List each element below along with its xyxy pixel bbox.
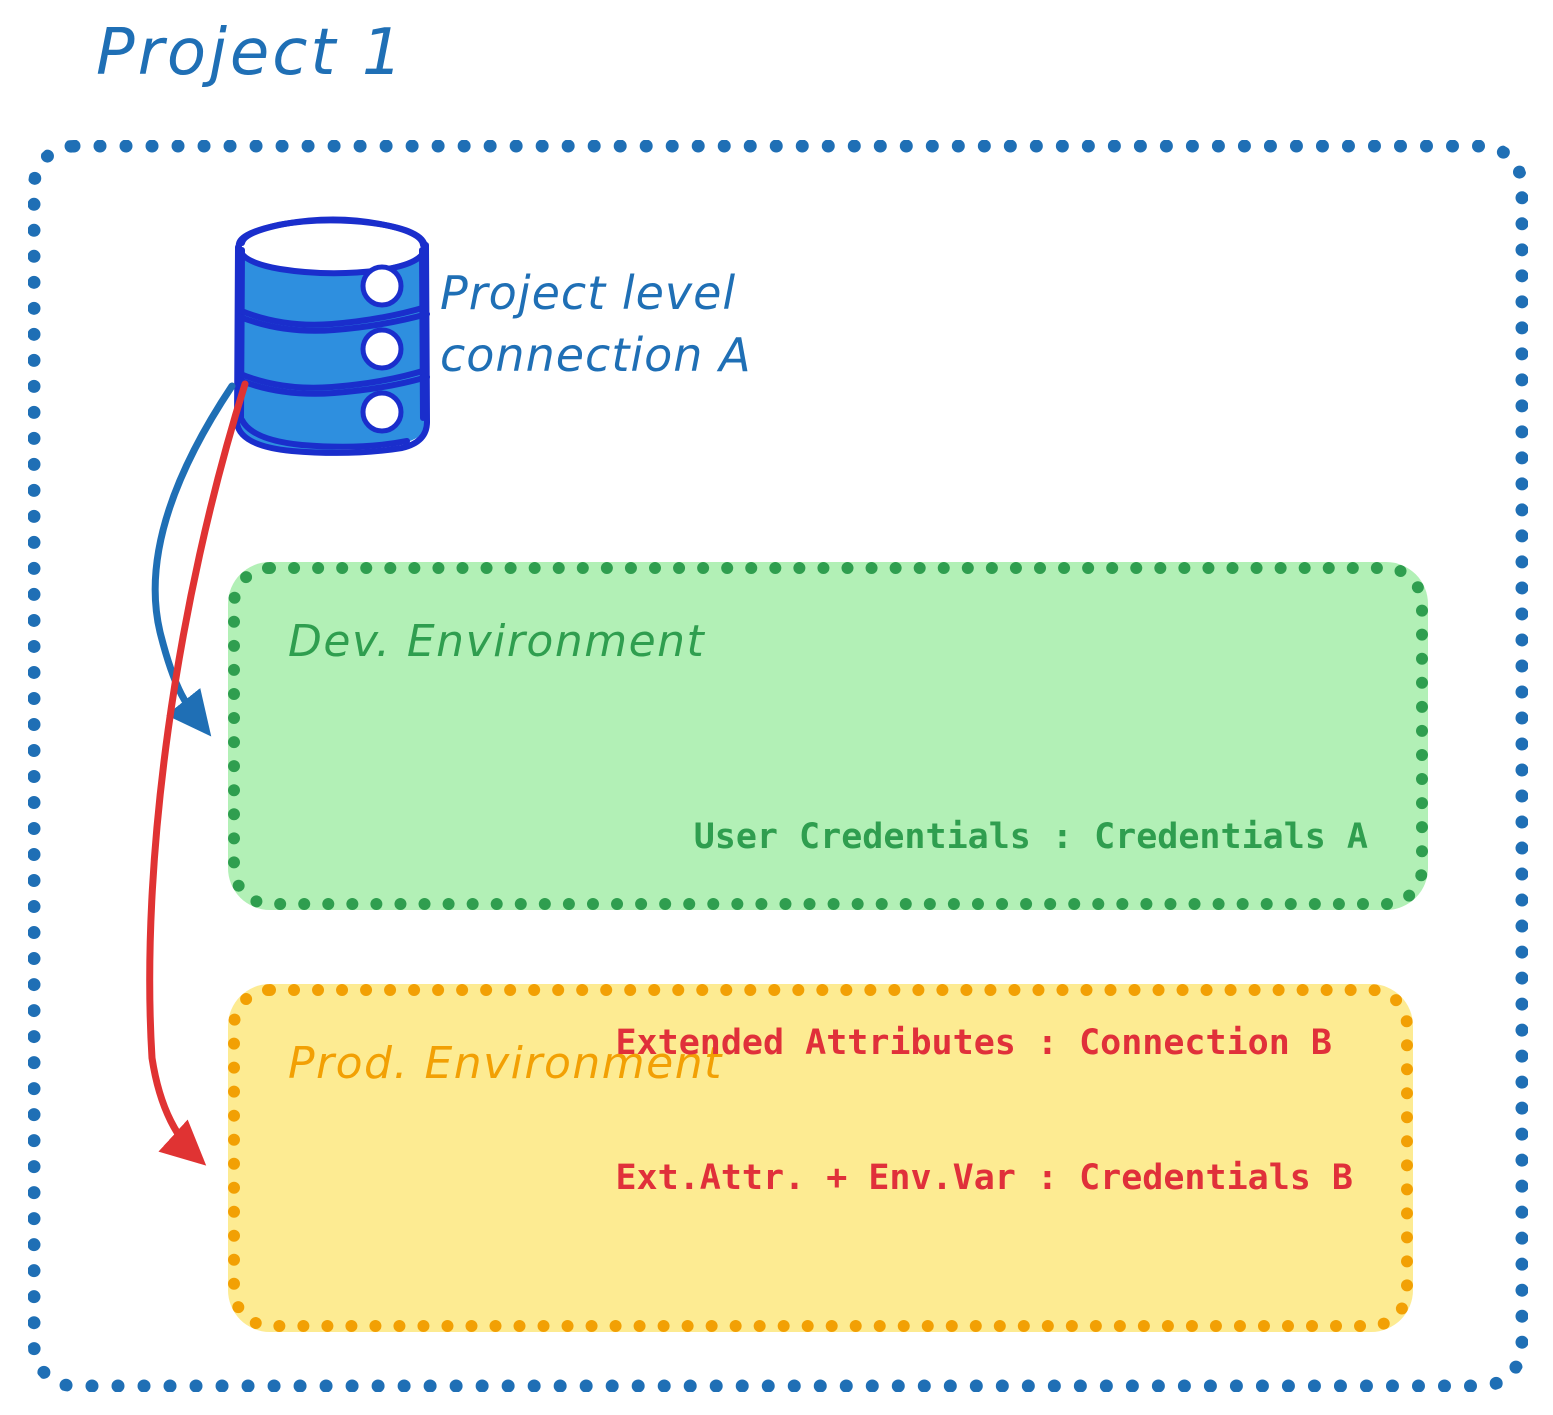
dev-environment-title: Dev. Environment [288, 616, 705, 667]
prod-extended-attributes-line: Extended Attributes : Connection B [615, 1021, 1353, 1066]
database-cylinder-icon[interactable] [222, 210, 442, 460]
diagram-canvas: Project 1 Dev. Environment User Credenti… [0, 0, 1553, 1415]
dev-environment-credentials-line: User Credentials : Credentials A [694, 815, 1368, 860]
prod-environment-box[interactable]: Prod. Environment Extended Attributes : … [228, 984, 1413, 1332]
page-title: Project 1 [96, 16, 406, 90]
database-label: Project level connection A [440, 262, 860, 386]
dev-environment-box[interactable]: Dev. Environment User Credentials : Cred… [228, 562, 1428, 910]
prod-environment-attribute-lines: Extended Attributes : Connection B Ext.A… [615, 932, 1353, 1290]
prod-env-var-line: Ext.Attr. + Env.Var : Credentials B [615, 1156, 1353, 1201]
